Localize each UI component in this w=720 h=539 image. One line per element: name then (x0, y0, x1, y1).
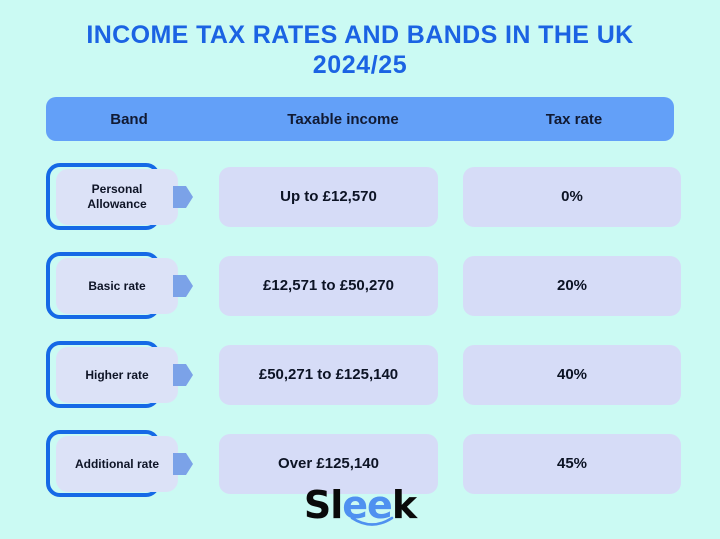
rate-cell: 0% (463, 167, 681, 227)
band-cell: Basic rate (46, 252, 212, 319)
band-label: Additional rate (69, 457, 165, 472)
smile-icon (350, 516, 394, 528)
income-value: Up to £12,570 (280, 188, 377, 205)
rate-cell: 40% (463, 345, 681, 405)
title-line-2: 2024/25 (0, 50, 720, 80)
band-chip: Additional rate (56, 436, 178, 492)
logo-text-part-1: Sl (304, 483, 342, 527)
tax-bands-table: Band Taxable income Tax rate Personal Al… (46, 97, 674, 497)
logo-text-part-3: k (392, 483, 416, 527)
band-label: Basic rate (82, 279, 151, 294)
rate-value: 20% (557, 277, 587, 294)
band-label: Personal Allowance (56, 182, 178, 212)
table-row: Personal Allowance Up to £12,570 0% (46, 163, 674, 230)
rate-value: 45% (557, 455, 587, 472)
rate-cell: 20% (463, 256, 681, 316)
band-chip: Basic rate (56, 258, 178, 314)
table-row: Basic rate £12,571 to £50,270 20% (46, 252, 674, 319)
rate-cell: 45% (463, 434, 681, 494)
title-line-1: INCOME TAX RATES AND BANDS IN THE UK (0, 20, 720, 50)
rate-value: 0% (561, 188, 583, 205)
income-cell: Up to £12,570 (219, 167, 438, 227)
rate-value: 40% (557, 366, 587, 383)
band-cell: Higher rate (46, 341, 212, 408)
band-label: Higher rate (79, 368, 154, 383)
income-value: £12,571 to £50,270 (263, 277, 394, 294)
band-chip: Higher rate (56, 347, 178, 403)
band-chip: Personal Allowance (56, 169, 178, 225)
income-cell: £12,571 to £50,270 (219, 256, 438, 316)
column-header-band: Band (46, 111, 212, 128)
table-header-row: Band Taxable income Tax rate (46, 97, 674, 141)
column-header-income: Taxable income (218, 111, 468, 128)
band-cell: Personal Allowance (46, 163, 212, 230)
income-value: Over £125,140 (278, 455, 379, 472)
table-row: Higher rate £50,271 to £125,140 40% (46, 341, 674, 408)
income-value: £50,271 to £125,140 (259, 366, 398, 383)
income-cell: £50,271 to £125,140 (219, 345, 438, 405)
column-header-rate: Tax rate (474, 111, 674, 128)
page-title: INCOME TAX RATES AND BANDS IN THE UK 202… (0, 20, 720, 80)
brand-logo: Sleek (0, 486, 720, 532)
